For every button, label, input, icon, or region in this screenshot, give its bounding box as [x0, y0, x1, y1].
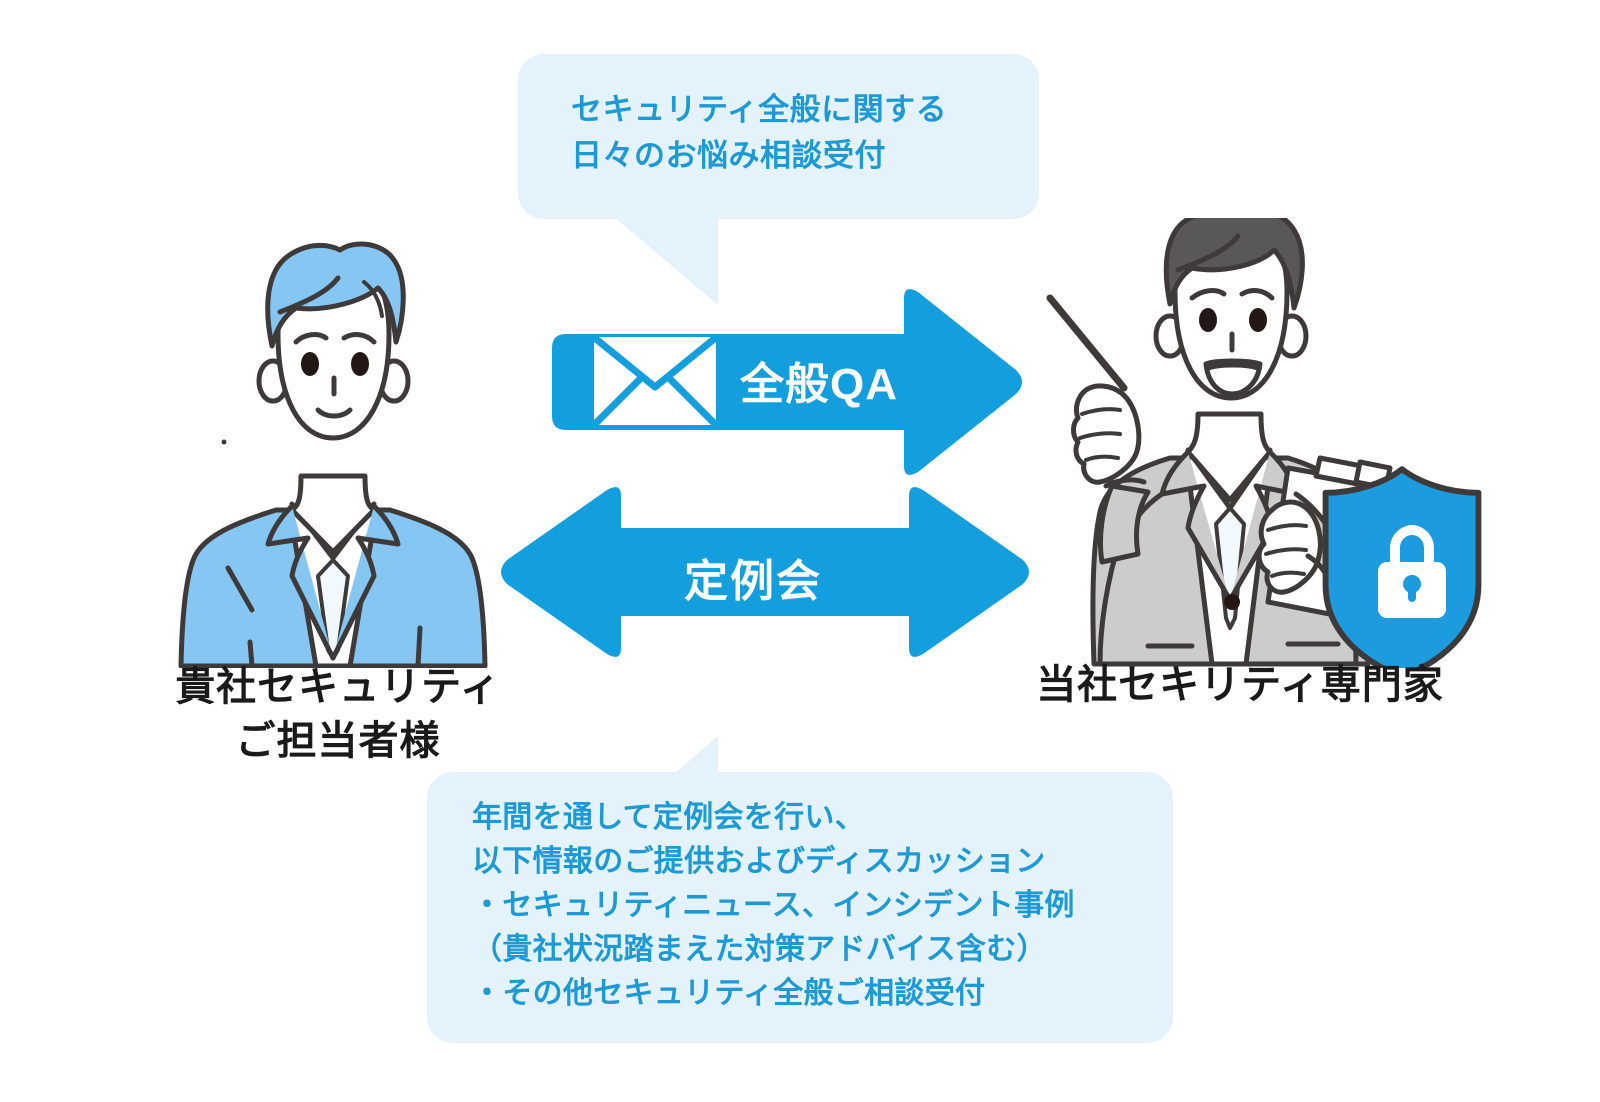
caption-client-person: 貴社セキュリティ ご担当者様 [108, 660, 568, 768]
speech-bubble-top: セキュリティ全般に関する 日々のお悩み相談受付 [518, 54, 1039, 219]
speech-bubble-top-text: セキュリティ全般に関する 日々のお悩み相談受付 [571, 87, 947, 179]
speech-bubble-bottom-text: 年間を通して定例会を行い、 以下情報のご提供およびディスカッション ・セキュリテ… [472, 796, 1075, 1016]
diagram-canvas: セキュリティ全般に関する 日々のお悩み相談受付 年間を通して定例会を行い、 以下… [0, 0, 1600, 1102]
envelope-icon [588, 333, 722, 429]
caption-specialist-person: 当社セキリティ専門家 [960, 658, 1520, 712]
shield-lock-icon [1326, 469, 1479, 668]
arrow-regular-meeting-label: 定例会 [684, 545, 822, 609]
illustration-client-person [168, 238, 498, 668]
speech-bubble-bottom: 年間を通して定例会を行い、 以下情報のご提供およびディスカッション ・セキュリテ… [427, 772, 1173, 1043]
arrow-general-qa-label: 全般QA [740, 348, 898, 412]
illustration-specialist-person [1020, 218, 1510, 668]
